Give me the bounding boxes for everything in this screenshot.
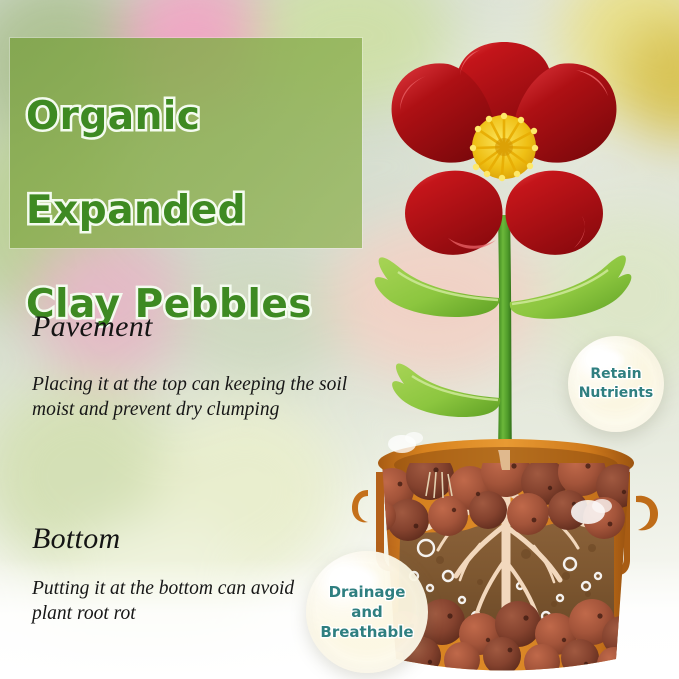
title-line-2: Expanded (26, 187, 366, 234)
section-body-bottom: Putting it at the bottom can avoid plant… (32, 576, 304, 626)
bubble-label-retain-nutrients: Retain Nutrients (568, 365, 664, 403)
section-heading-bottom: Bottom (32, 522, 120, 556)
callout-bubble-retain-nutrients: Retain Nutrients (568, 336, 664, 432)
leaf-upper-left (375, 257, 500, 317)
section-body-pavement: Placing it at the top can keeping the so… (32, 372, 352, 422)
product-infographic: Organic Expanded Clay Pebbles Pavement P… (0, 0, 679, 679)
leaf-upper-right (510, 255, 632, 319)
leaf-lower-left (392, 364, 500, 417)
callout-bubble-drainage-breathable: Drainage and Breathable (306, 551, 428, 673)
title-line-1: Organic (26, 93, 366, 140)
bubble-label-drainage-breathable: Drainage and Breathable (306, 582, 428, 642)
section-heading-pavement: Pavement (32, 310, 153, 344)
stem (498, 215, 512, 452)
